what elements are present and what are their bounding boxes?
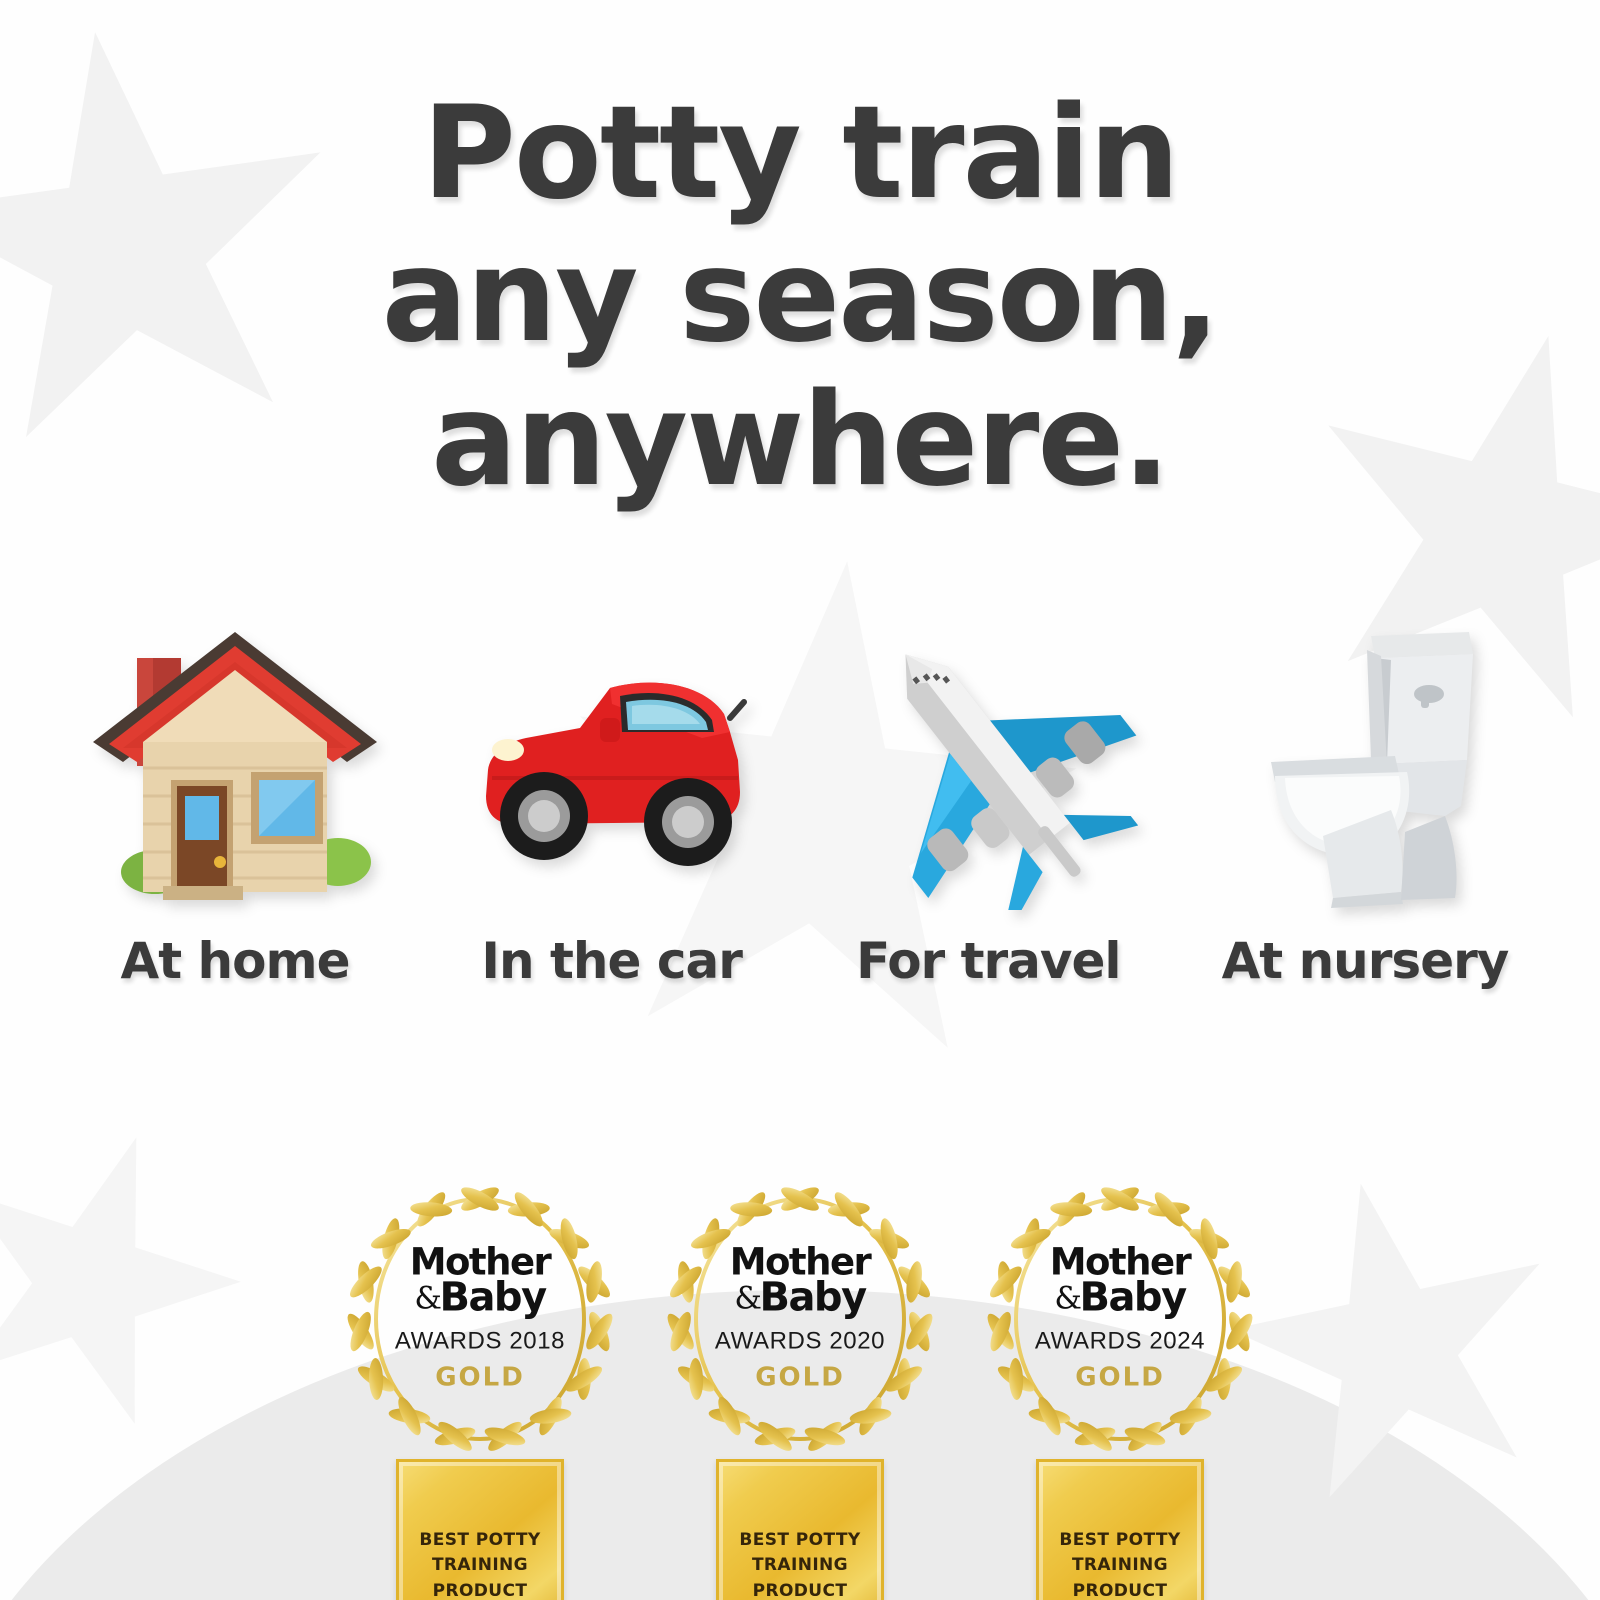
mother-baby-logo: Mother &Baby xyxy=(705,1246,895,1317)
headline-line-3: anywhere. xyxy=(0,369,1600,512)
brand-line-baby: Baby xyxy=(1079,1275,1185,1321)
award-tier-label: GOLD xyxy=(705,1362,895,1392)
use-case-at-home: At home xyxy=(60,610,410,990)
toilet-icon xyxy=(1215,610,1515,910)
plaque-line-2: TRAINING xyxy=(432,1553,528,1579)
mother-baby-logo: Mother &Baby xyxy=(1025,1246,1215,1317)
headline-line-1: Potty train xyxy=(0,82,1600,225)
awards-year-label: AWARDS 2018 xyxy=(385,1327,575,1355)
laurel-wreath-icon: Mother &Baby AWARDS 2018 GOLD xyxy=(344,1185,616,1453)
brand-line-baby: Baby xyxy=(439,1275,545,1321)
award-plaque: BEST POTTY TRAINING PRODUCT xyxy=(396,1459,564,1600)
awards-year-label: AWARDS 2020 xyxy=(705,1327,895,1355)
plaque-line-3: PRODUCT xyxy=(1073,1579,1168,1600)
award-badge: Mother &Baby AWARDS 2020 GOLD BEST POTTY… xyxy=(664,1185,936,1600)
plaque-line-3: PRODUCT xyxy=(753,1579,848,1600)
brand-ampersand: & xyxy=(1054,1281,1080,1317)
awards-row: Mother &Baby AWARDS 2018 GOLD BEST POTTY… xyxy=(0,1185,1600,1600)
promo-graphic: Potty train any season, anywhere. xyxy=(0,0,1600,1600)
use-case-for-travel: For travel xyxy=(813,610,1163,990)
plaque-line-2: TRAINING xyxy=(1072,1553,1168,1579)
award-tier-label: GOLD xyxy=(1025,1362,1215,1392)
use-case-label: In the car xyxy=(481,932,741,990)
award-badge: Mother &Baby AWARDS 2018 GOLD BEST POTTY… xyxy=(344,1185,616,1600)
plaque-line-1: BEST POTTY xyxy=(419,1528,540,1554)
laurel-wreath-icon: Mother &Baby AWARDS 2024 GOLD xyxy=(984,1185,1256,1453)
mother-baby-logo: Mother &Baby xyxy=(385,1246,575,1317)
plaque-line-2: TRAINING xyxy=(752,1553,848,1579)
brand-ampersand: & xyxy=(734,1281,760,1317)
awards-year-label: AWARDS 2024 xyxy=(1025,1327,1215,1355)
plaque-line-1: BEST POTTY xyxy=(1059,1528,1180,1554)
use-case-label: At nursery xyxy=(1222,932,1509,990)
use-case-in-the-car: In the car xyxy=(437,610,787,990)
airplane-icon xyxy=(838,610,1138,910)
brand-ampersand: & xyxy=(414,1281,440,1317)
use-case-at-nursery: At nursery xyxy=(1190,610,1540,990)
award-plaque: BEST POTTY TRAINING PRODUCT xyxy=(716,1459,884,1600)
use-case-label: At home xyxy=(121,932,350,990)
award-tier-label: GOLD xyxy=(385,1362,575,1392)
headline-line-2: any season, xyxy=(0,225,1600,368)
award-badge: Mother &Baby AWARDS 2024 GOLD BEST POTTY… xyxy=(984,1185,1256,1600)
use-case-row: At home xyxy=(60,610,1540,990)
award-plaque: BEST POTTY TRAINING PRODUCT xyxy=(1036,1459,1204,1600)
use-case-label: For travel xyxy=(856,932,1121,990)
car-icon xyxy=(462,610,762,910)
page-title: Potty train any season, anywhere. xyxy=(0,82,1600,512)
plaque-line-1: BEST POTTY xyxy=(739,1528,860,1554)
house-icon xyxy=(85,610,385,910)
laurel-wreath-icon: Mother &Baby AWARDS 2020 GOLD xyxy=(664,1185,936,1453)
plaque-line-3: PRODUCT xyxy=(433,1579,528,1600)
brand-line-baby: Baby xyxy=(759,1275,865,1321)
